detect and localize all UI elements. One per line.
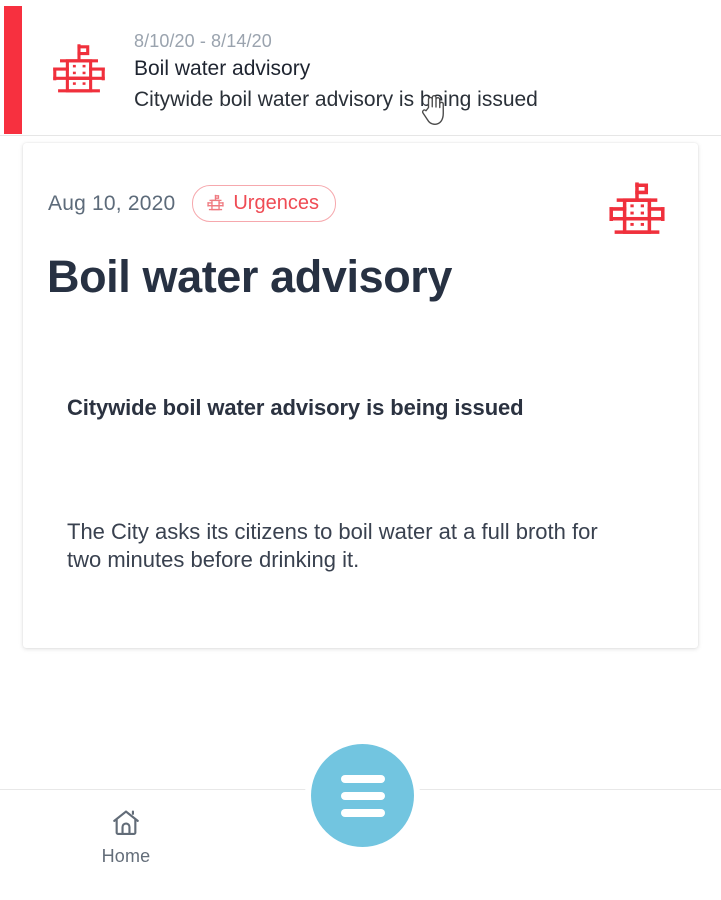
city-hall-icon	[206, 194, 225, 213]
menu-line-2	[341, 792, 385, 800]
card-header-row: Aug 10, 2020	[48, 185, 336, 222]
alert-title: Boil water advisory	[134, 54, 694, 84]
alert-text-block: 8/10/20 - 8/14/20 Boil water advisory Ci…	[134, 28, 694, 115]
alert-date-range: 8/10/20 - 8/14/20	[134, 28, 694, 54]
card-lead-text: Citywide boil water advisory is being is…	[67, 395, 524, 421]
menu-line-3	[341, 809, 385, 817]
hamburger-menu-icon[interactable]	[311, 744, 414, 847]
bottom-navigation-bar: Home	[0, 789, 721, 900]
alert-notification-banner[interactable]: 8/10/20 - 8/14/20 Boil water advisory Ci…	[0, 4, 721, 136]
sidebar-item-label: Home	[102, 846, 151, 867]
city-hall-icon	[48, 40, 110, 102]
status-badge-label: Urgences	[233, 192, 319, 215]
menu-line-1	[341, 775, 385, 783]
city-hall-icon	[604, 178, 670, 244]
sidebar-item-home[interactable]: Home	[86, 807, 166, 867]
mobile-app-screen: 8/10/20 - 8/14/20 Boil water advisory Ci…	[0, 0, 721, 900]
status-badge[interactable]: Urgences	[192, 185, 336, 222]
alert-subtitle: Citywide boil water advisory is being is…	[134, 84, 694, 115]
home-icon	[109, 807, 143, 839]
advisory-detail-card: Aug 10, 2020	[23, 143, 698, 648]
card-body-text: The City asks its citizens to boil water…	[67, 518, 637, 574]
alert-accent-bar	[4, 6, 22, 134]
page-title: Boil water advisory	[47, 251, 452, 303]
card-date: Aug 10, 2020	[48, 192, 175, 216]
